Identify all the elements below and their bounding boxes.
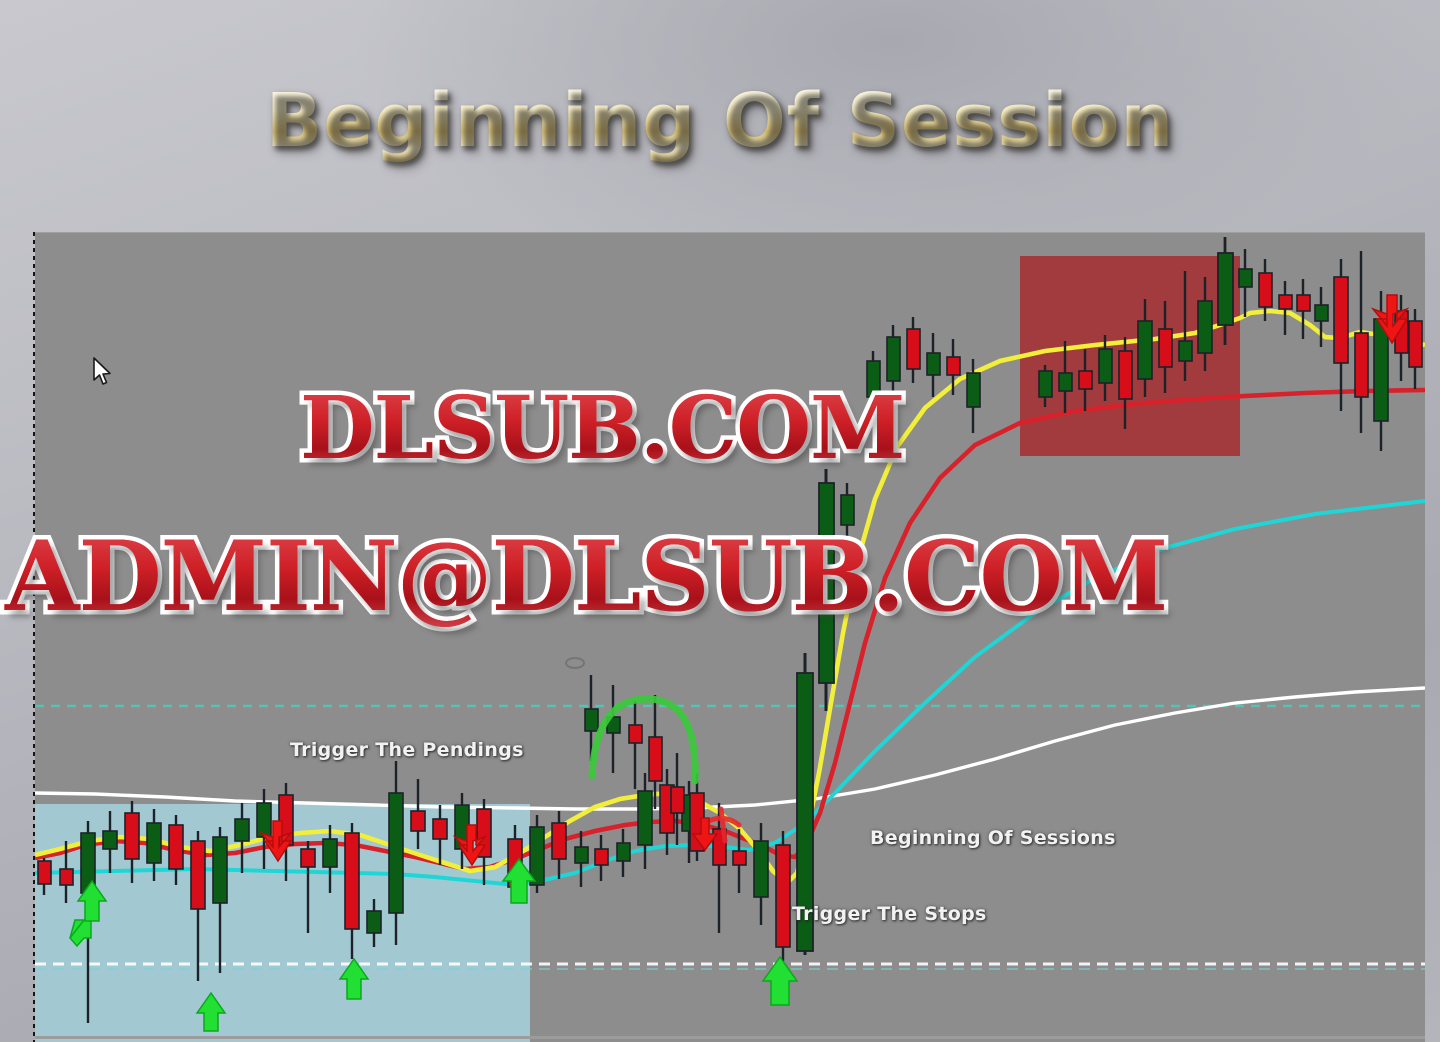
mouse-pointer-icon [92, 357, 114, 387]
candlestick-group-right [1334, 251, 1422, 451]
freehand-arc-annotation [592, 699, 695, 781]
annotation-trigger-stops: Trigger The Stops [792, 903, 987, 925]
price-chart-panel[interactable]: Trigger The Pendings Beginning Of Sessio… [35, 232, 1425, 1042]
slide-canvas: Beginning Of Session [0, 0, 1440, 1042]
annotation-trigger-pendings: Trigger The Pendings [290, 739, 524, 761]
small-ellipse-mark [566, 658, 584, 668]
watermark-email: ADMIN@DLSUB.COM [5, 520, 1167, 633]
level-line-lower [35, 964, 1425, 969]
annotation-beginning-of-sessions: Beginning Of Sessions [870, 827, 1116, 849]
chart-drawing-layer [35, 233, 1425, 1042]
watermark-domain: DLSUB.COM [300, 378, 904, 479]
page-title: Beginning Of Session [0, 78, 1440, 164]
chart-bottom-border [35, 1036, 1425, 1039]
candlestick-group-left [38, 761, 696, 1023]
buy-arrow-marker [197, 993, 225, 1031]
